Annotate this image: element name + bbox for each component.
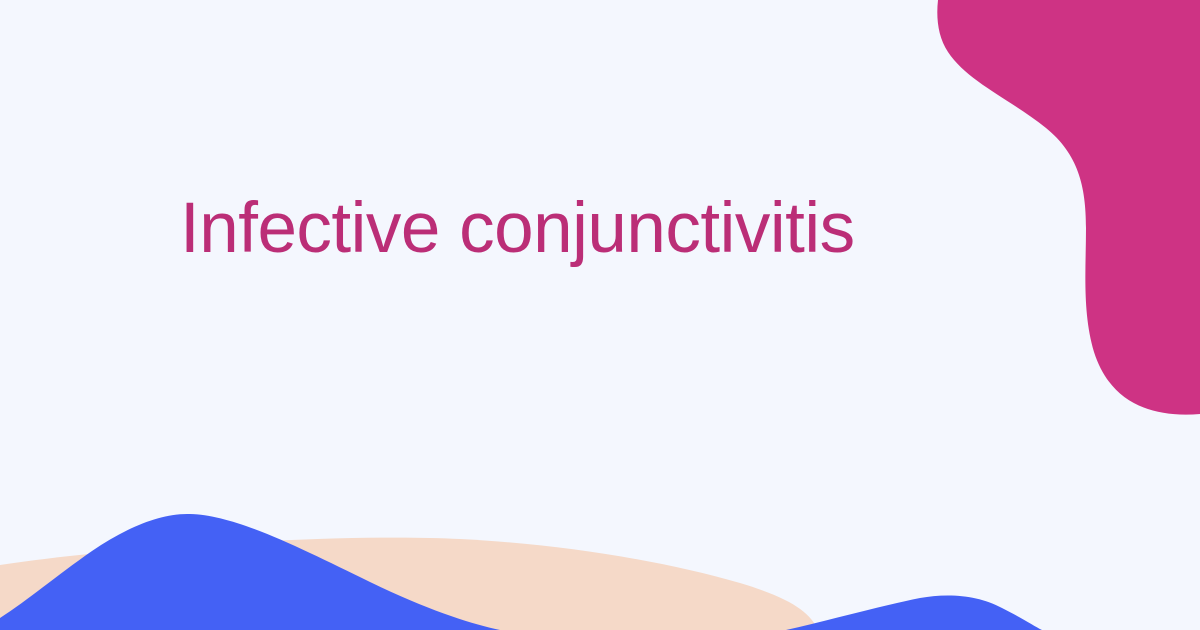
title-block: Infective conjunctivitis	[180, 180, 880, 278]
social-card: Infective conjunctivitis	[0, 0, 1200, 630]
background-decoration	[0, 0, 1200, 630]
pink-blob-top-right-shape	[937, 0, 1200, 415]
peach-blob-bottom-shape	[0, 538, 818, 630]
blue-blob-bottom-right-shape	[786, 595, 1042, 630]
page-title: Infective conjunctivitis	[180, 180, 880, 278]
blue-blob-bottom-left-shape	[0, 514, 500, 630]
